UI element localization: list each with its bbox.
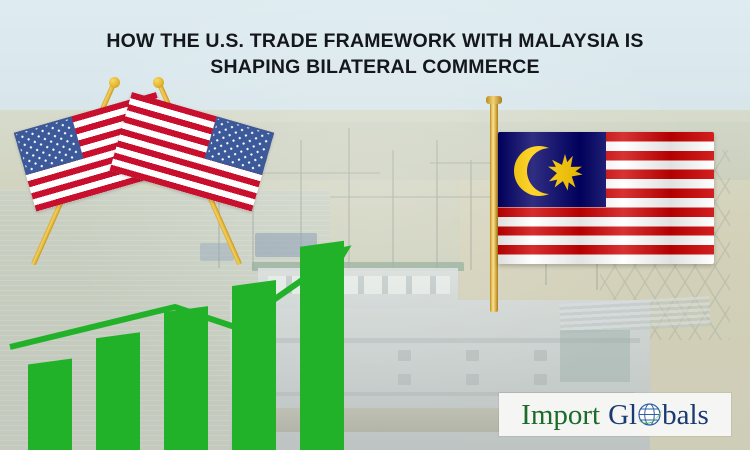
chart-bar bbox=[28, 358, 72, 450]
title-line-1: HOW THE U.S. TRADE FRAMEWORK WITH MALAYS… bbox=[0, 28, 750, 54]
us-flags-group bbox=[0, 60, 260, 310]
import-globals-logo[interactable]: ImportGl bals bbox=[499, 393, 731, 436]
malaysia-flag-pole bbox=[490, 100, 498, 312]
us-flag-right bbox=[109, 92, 274, 212]
logo-word-bals: bals bbox=[662, 401, 709, 430]
chart-bar bbox=[300, 241, 344, 450]
logo-text: ImportGl bals bbox=[521, 399, 709, 430]
malaysia-flag-group bbox=[470, 90, 740, 320]
chart-bar bbox=[96, 332, 140, 450]
malaysia-flag bbox=[498, 132, 714, 264]
malaysia-flag-canton bbox=[498, 132, 606, 207]
title-line-2: SHAPING BILATERAL COMMERCE bbox=[0, 54, 750, 80]
page-title: HOW THE U.S. TRADE FRAMEWORK WITH MALAYS… bbox=[0, 28, 750, 80]
globe-icon bbox=[637, 402, 662, 427]
star-icon bbox=[547, 154, 583, 190]
chart-bar bbox=[164, 306, 208, 450]
malaysia-flag-pole-cap bbox=[486, 96, 502, 104]
logo-word-import: Import bbox=[521, 401, 600, 430]
banner: HOW THE U.S. TRADE FRAMEWORK WITH MALAYS… bbox=[0, 0, 750, 450]
logo-word-gl: Gl bbox=[608, 401, 637, 430]
